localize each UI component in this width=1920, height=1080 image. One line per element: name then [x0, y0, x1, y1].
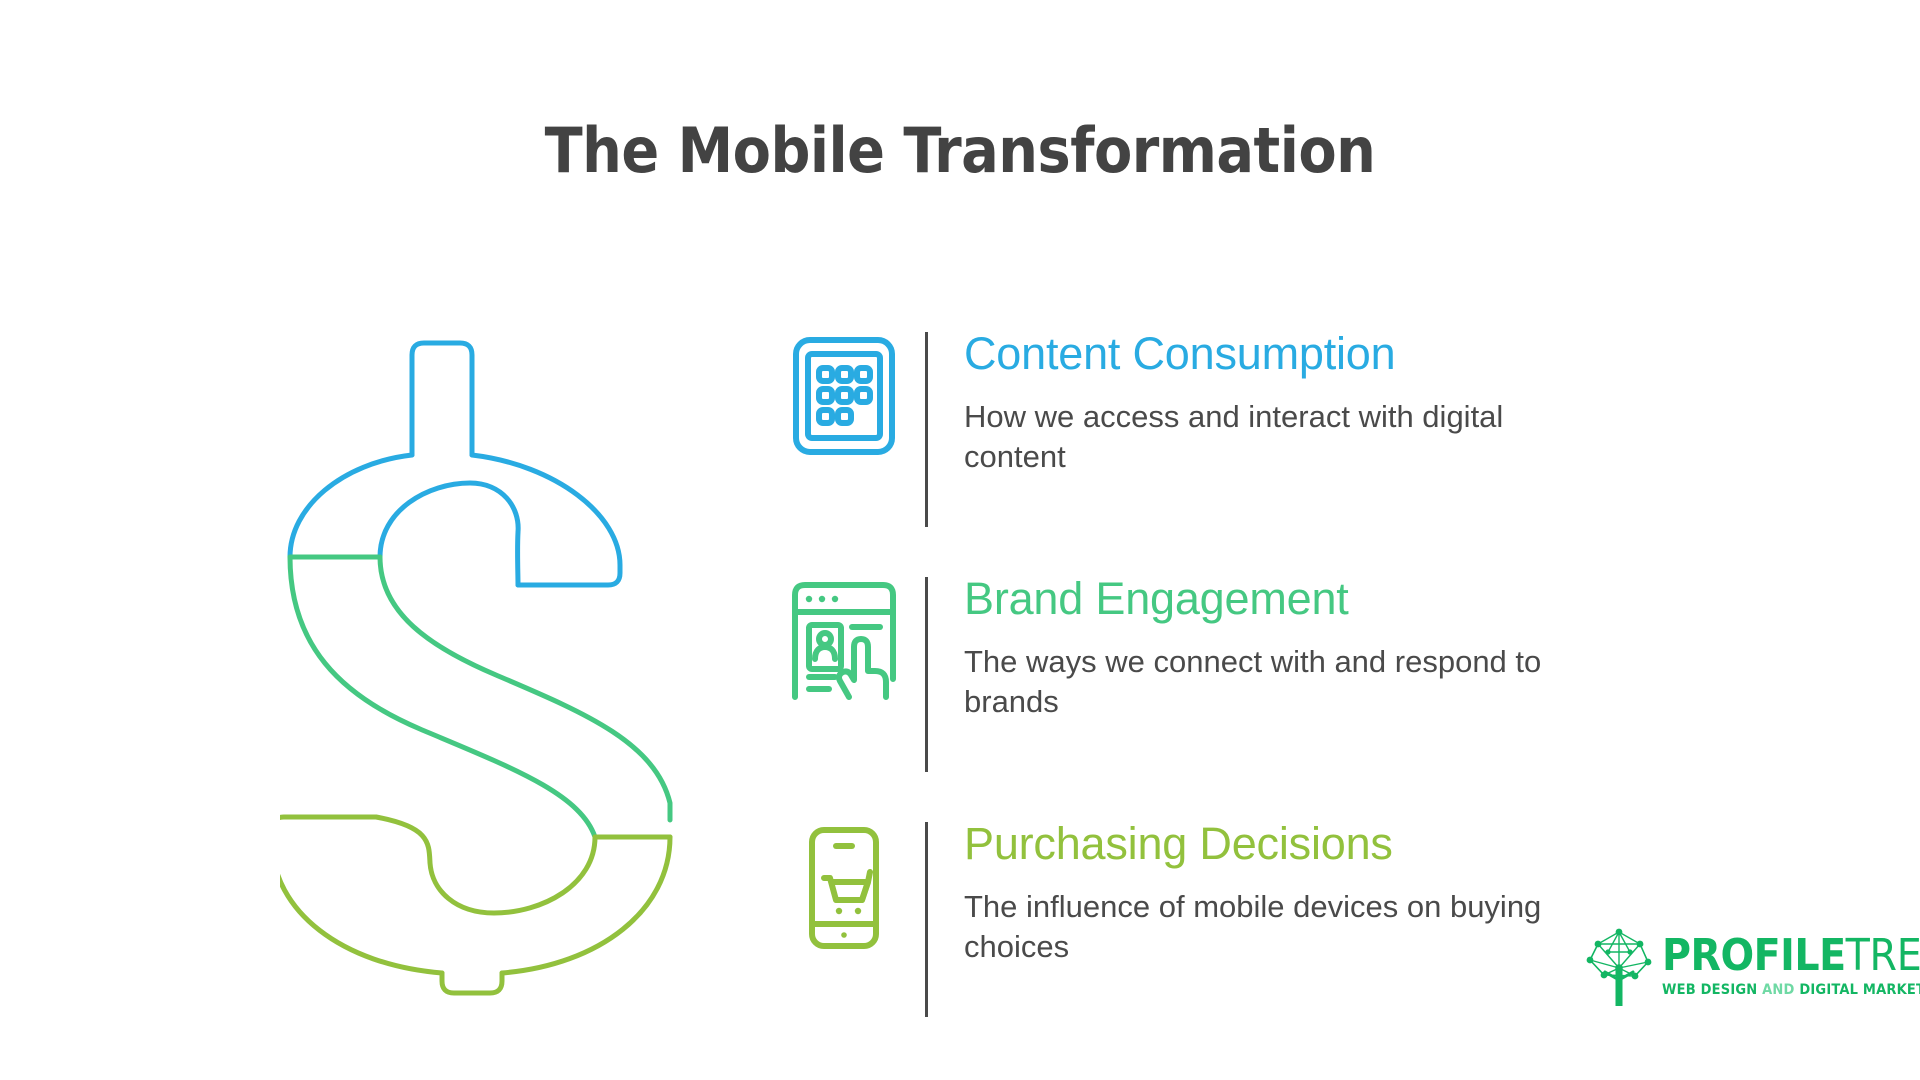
feature-heading: Brand Engagement — [964, 575, 1785, 622]
browser-profile-tap-icon — [785, 575, 903, 715]
phone-shopping-cart-icon — [785, 820, 903, 960]
feature-heading: Content Consumption — [964, 330, 1785, 377]
feature-text-block: Content Consumption How we access and in… — [928, 330, 1785, 477]
feature-heading: Purchasing Decisions — [964, 820, 1785, 867]
logo-wordmark: PROFILE TREE WEB DESIGN AND DIGITAL MARK… — [1662, 934, 1920, 998]
feature-item-content-consumption: Content Consumption How we access and in… — [785, 330, 1785, 575]
logo-word-tree: TREE — [1846, 934, 1920, 978]
logo-tagline-and: AND — [1762, 982, 1794, 998]
logo-tagline: WEB DESIGN AND DIGITAL MARKETING — [1662, 982, 1920, 998]
page-title: The Mobile Transformation — [0, 118, 1920, 183]
dollar-band-top-blue — [290, 343, 620, 585]
dollar-sign-graphic — [280, 325, 700, 1015]
network-tree-icon — [1580, 920, 1658, 1012]
feature-text-block: Brand Engagement The ways we connect wit… — [928, 575, 1785, 722]
logo-word-profile: PROFILE — [1662, 934, 1846, 978]
dollar-band-bottom-olive — [280, 817, 670, 993]
feature-description: The ways we connect with and respond to … — [964, 642, 1564, 721]
profiletree-logo: PROFILE TREE WEB DESIGN AND DIGITAL MARK… — [1580, 918, 1890, 1014]
tablet-app-grid-icon — [785, 330, 903, 470]
logo-tagline-part2: DIGITAL MARKETING — [1795, 982, 1920, 998]
feature-item-brand-engagement: Brand Engagement The ways we connect wit… — [785, 575, 1785, 820]
logo-tagline-part1: WEB DESIGN — [1662, 982, 1762, 998]
slide-canvas: The Mobile Transformation — [0, 0, 1920, 1080]
feature-description: How we access and interact with digital … — [964, 397, 1564, 476]
dollar-band-middle-green — [290, 557, 670, 837]
feature-description: The influence of mobile devices on buyin… — [964, 887, 1564, 966]
